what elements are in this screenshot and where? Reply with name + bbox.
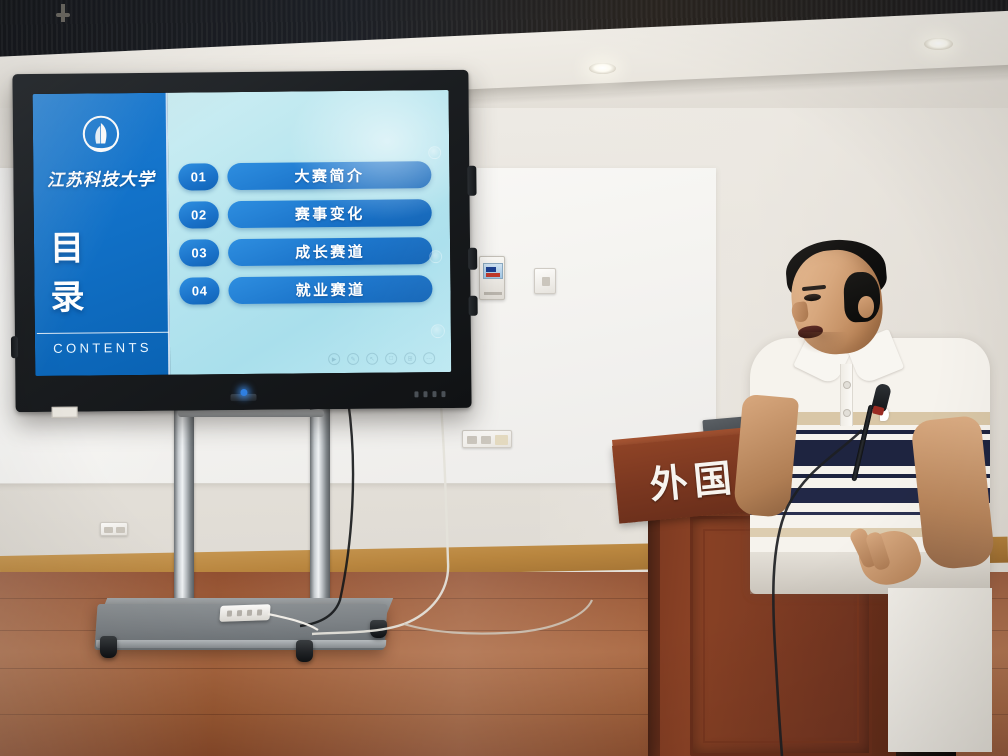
wall-control-panel[interactable] [479,256,505,300]
menu-number: 01 [178,163,218,190]
heading-rule [36,332,168,334]
display-left-port[interactable] [11,336,18,358]
left-arm [733,394,799,518]
downlight-icon [589,63,616,74]
shirt-button [844,410,850,416]
cart-caster [296,640,313,662]
chin-shadow [796,332,848,354]
grid-icon[interactable]: ⊞ [404,352,416,364]
control-panel-screen [483,263,503,279]
trousers [888,588,992,752]
display-screen[interactable]: 江苏科技大学 目 录 CONTENTS 01 大赛简介 02 赛 [33,90,452,376]
display-spec-tag [52,407,78,418]
presenter [740,232,1008,652]
pointer-icon[interactable]: ↖ [366,353,378,365]
cart-base-lip [96,640,387,648]
slide-heading-cn: 目 录 [34,220,170,319]
slide-menu-item[interactable]: 04 就业赛道 [180,275,433,304]
slide-toolbar[interactable]: ▶ ✎ ↖ □ ⊞ ⋯ [328,352,435,365]
menu-label: 成长赛道 [228,237,432,266]
slide-menu-item[interactable]: 03 成长赛道 [179,237,432,266]
cart-caster [100,636,117,658]
display-bezel-marks [414,391,445,397]
power-strip[interactable] [219,604,270,622]
cart-crossbar [178,410,324,417]
ear [858,296,874,318]
cart-pole-right [310,398,330,620]
more-icon[interactable]: ⋯ [423,352,435,364]
lecture-room-scene: 江苏科技大学 目 录 CONTENTS 01 大赛简介 02 赛 [0,0,1008,756]
cart-pole-left [174,398,194,616]
slide-menu-item[interactable]: 02 赛事变化 [179,199,432,228]
menu-number: 03 [179,239,219,266]
downlight-icon [924,38,953,50]
wall-outlet[interactable] [100,522,128,536]
display-side-port[interactable] [468,248,477,270]
slide-right-panel: 01 大赛简介 02 赛事变化 03 成长赛道 04 就业赛道 [168,90,452,375]
menu-label: 就业赛道 [229,275,433,304]
screen-corner-dot-icon [431,324,445,338]
university-name: 江苏科技大学 [47,165,155,191]
display-side-port[interactable] [469,296,478,316]
wall-outlet[interactable] [462,430,512,448]
shirt-placket [840,364,853,426]
slide-heading-en-wrap: CONTENTS [36,332,168,356]
slide-heading-en: CONTENTS [37,340,169,356]
play-icon[interactable]: ▶ [328,353,340,365]
shirt-button [844,382,850,388]
eraser-icon[interactable]: □ [385,353,397,365]
menu-label: 大赛简介 [227,161,431,190]
fire-sprinkler-icon [56,4,70,24]
screen-corner-dot-icon [429,250,442,263]
menu-number: 02 [179,201,219,228]
slide-left-panel: 江苏科技大学 目 录 CONTENTS [33,93,171,376]
menu-label: 赛事变化 [228,199,432,228]
slide-menu-item[interactable]: 01 大赛简介 [178,161,431,190]
display-side-port[interactable] [467,166,476,196]
pen-icon[interactable]: ✎ [347,353,359,365]
presentation-slide: 江苏科技大学 目 录 CONTENTS 01 大赛简介 02 赛 [33,90,452,376]
wall-switch-plate[interactable] [534,268,556,294]
university-crest-icon [78,113,122,161]
menu-number: 04 [180,277,220,304]
screen-corner-dot-icon [428,146,441,159]
interactive-display[interactable]: 江苏科技大学 目 录 CONTENTS 01 大赛简介 02 赛 [12,70,471,412]
cart-caster [370,620,387,638]
power-led-indicator [240,389,247,396]
